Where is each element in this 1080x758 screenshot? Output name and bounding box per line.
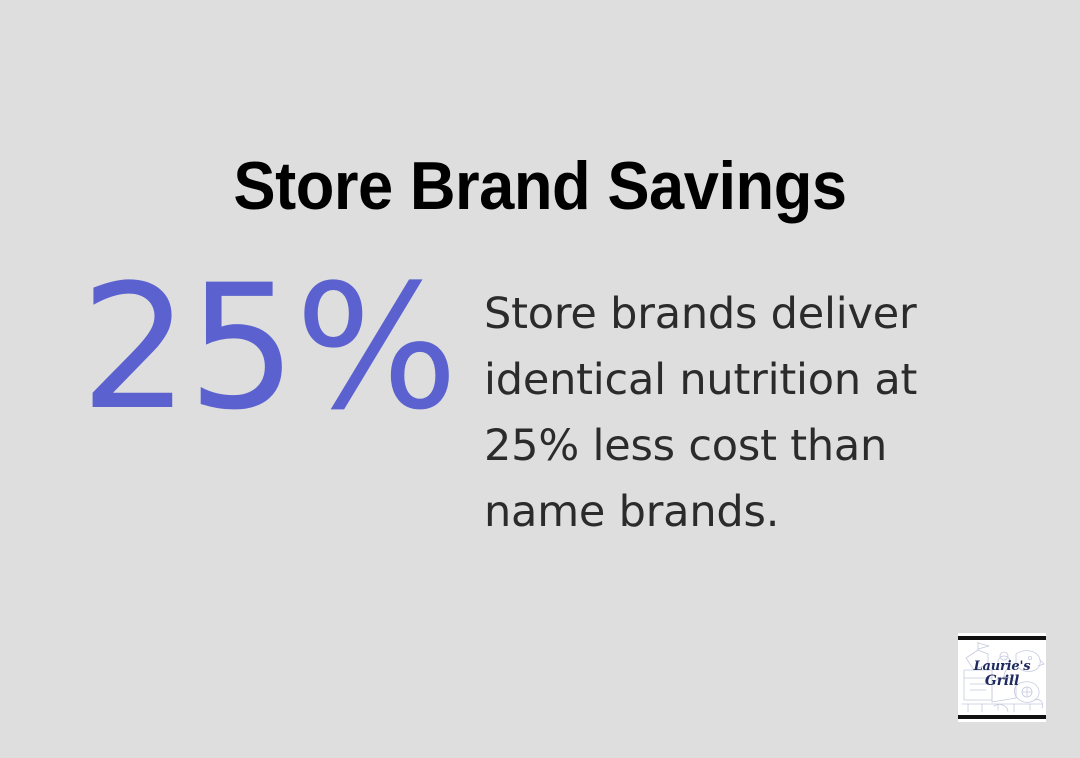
- stat-percentage-value: 25%: [80, 268, 410, 428]
- brand-logo-card: Laurie's Grill: [958, 633, 1046, 722]
- stat-description: Store brands deliver identical nutrition…: [484, 281, 944, 545]
- stat-description-line: name brands.: [484, 479, 944, 545]
- stat-description-line: identical nutrition at: [484, 347, 944, 413]
- stat-highlight-row: 25% Store brands deliver identical nutri…: [0, 268, 1080, 538]
- logo-wordmark: Laurie's Grill: [958, 659, 1046, 689]
- infographic-canvas: Store Brand Savings 25% Store brands del…: [0, 0, 1080, 758]
- stat-description-line: 25% less cost than: [484, 413, 944, 479]
- logo-bottom-rule: [958, 715, 1046, 719]
- logo-name-line-1: Laurie's: [974, 659, 1031, 674]
- page-title: Store Brand Savings: [38, 143, 1042, 229]
- logo-name-line-2: Grill: [958, 674, 1046, 689]
- stat-description-line: Store brands deliver: [484, 281, 944, 347]
